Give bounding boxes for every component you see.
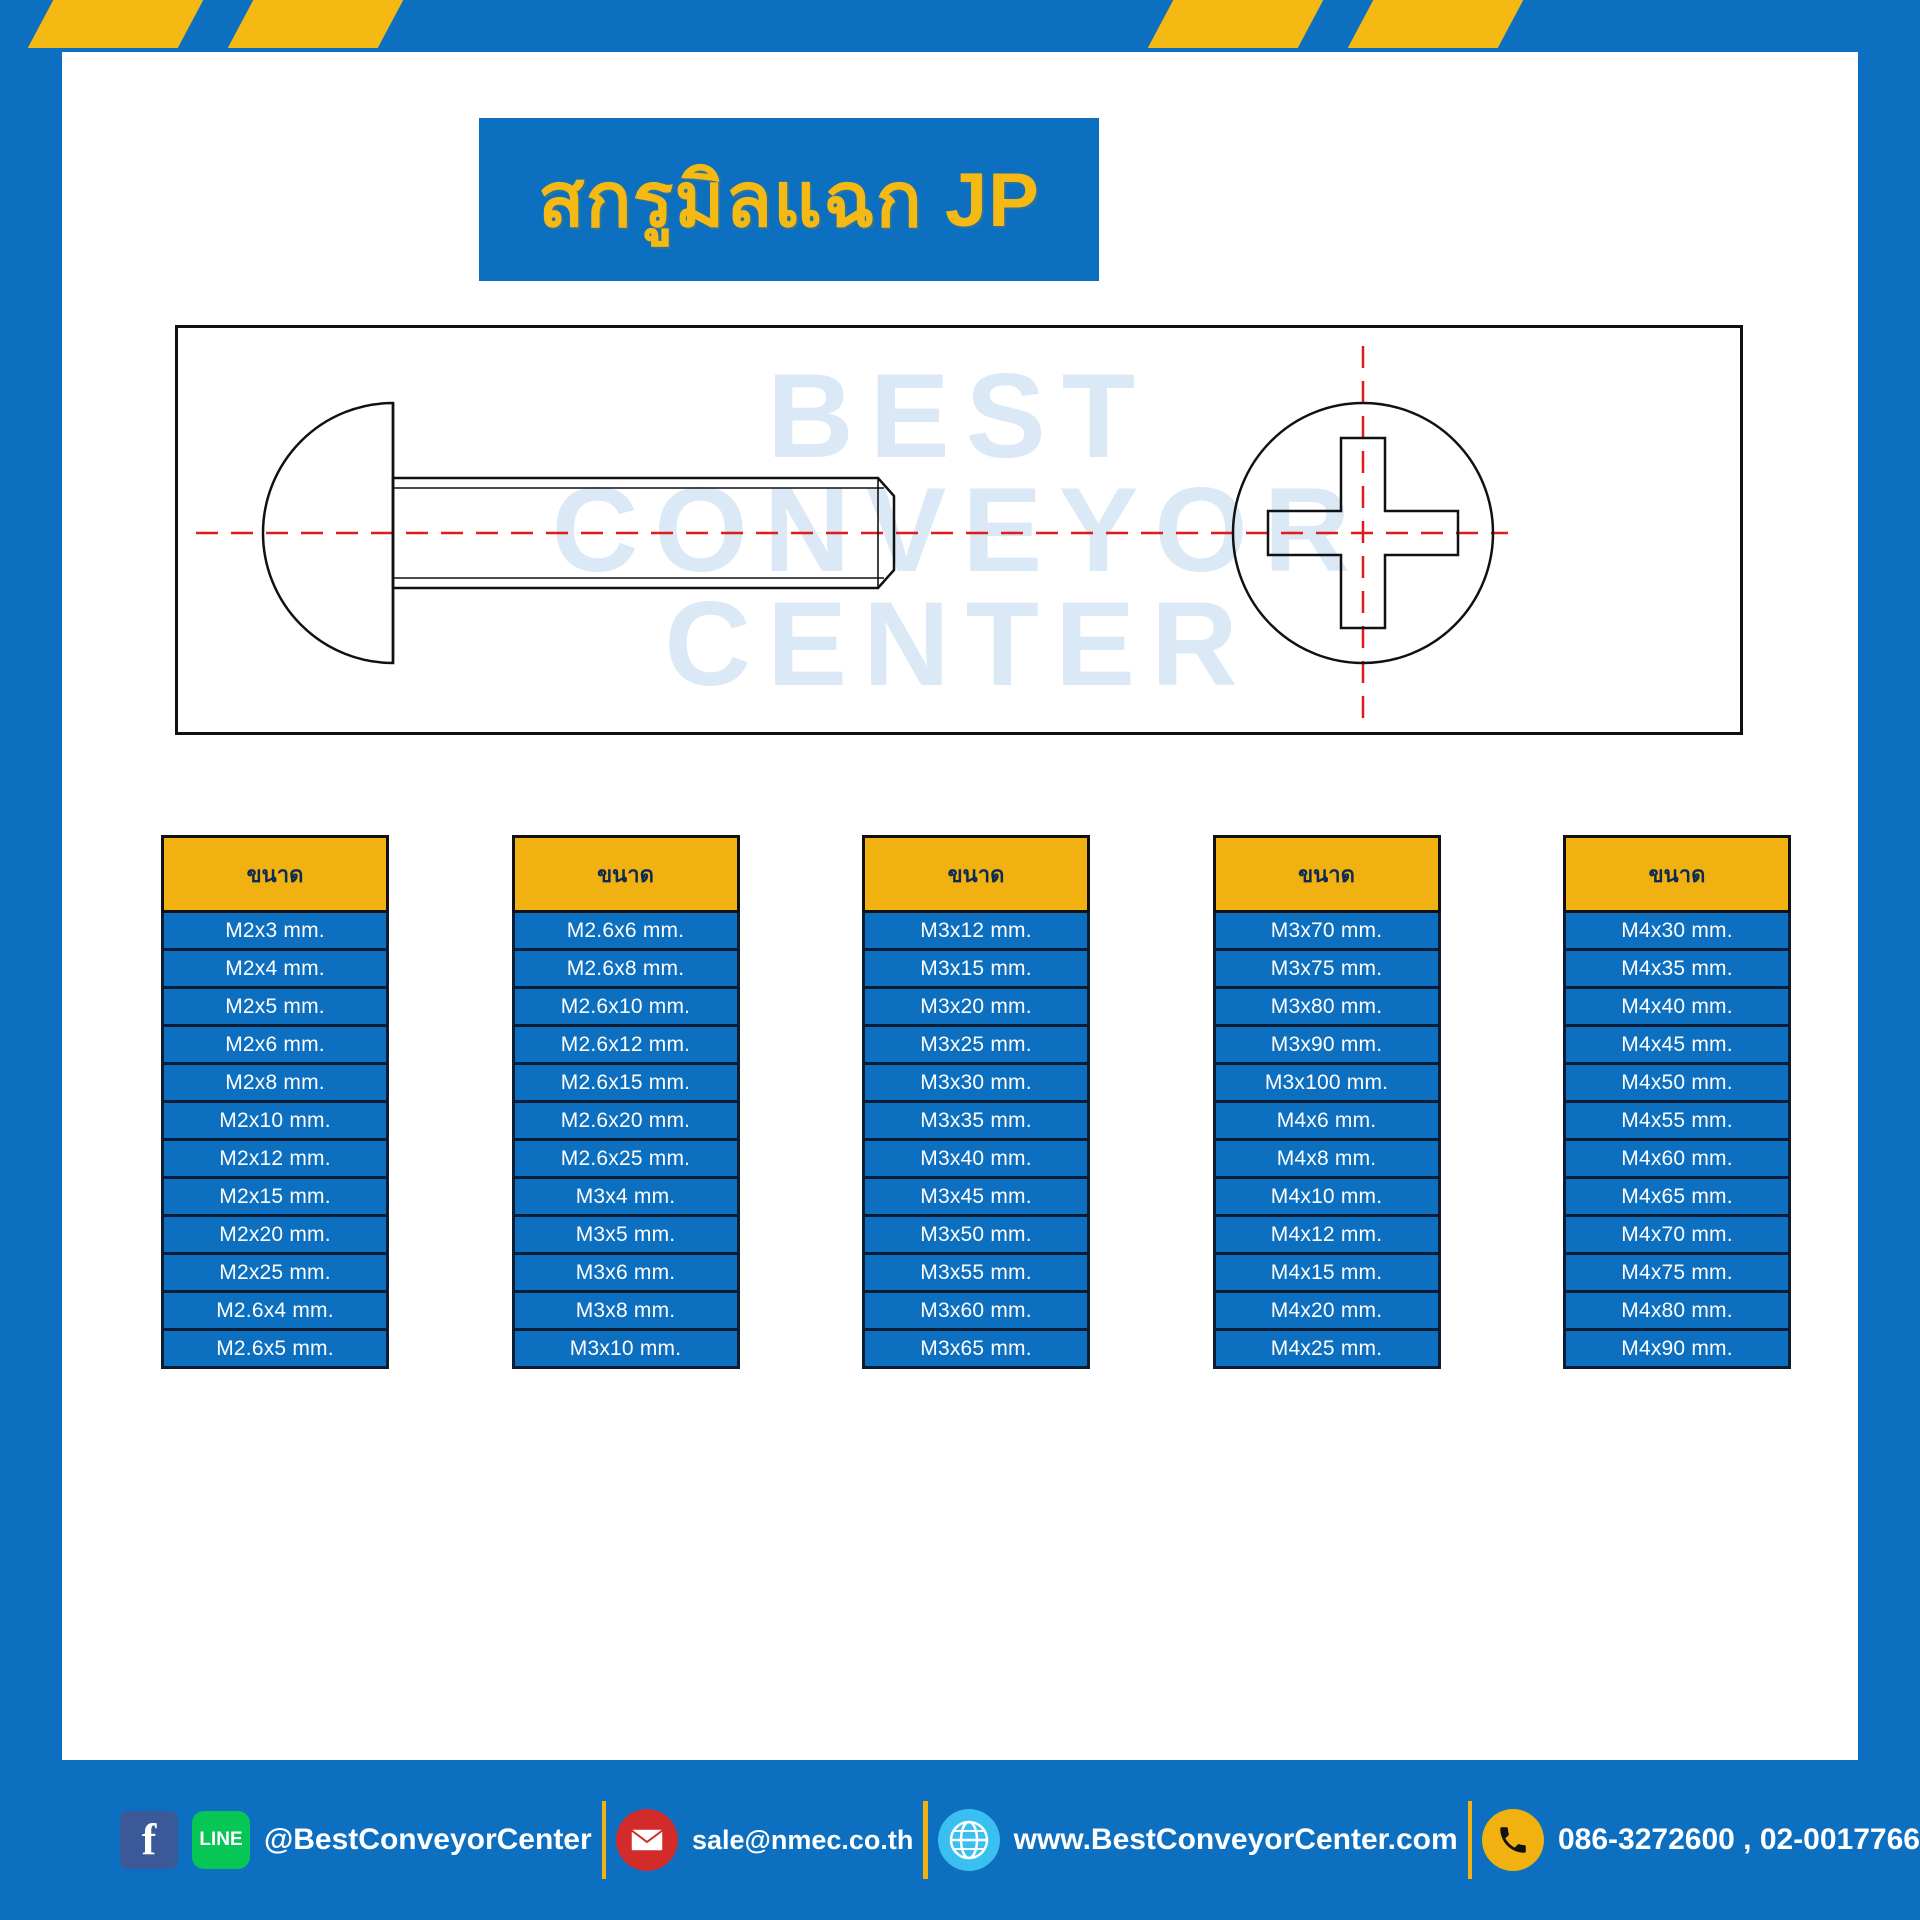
size-table-column-4: ขนาด M3x70 mm. M3x75 mm. M3x80 mm. M3x90… (1213, 835, 1441, 1369)
size-cell[interactable]: M4x90 mm. (1563, 1331, 1791, 1369)
chevron-shape (24, 0, 207, 48)
size-cell[interactable]: M4x30 mm. (1563, 913, 1791, 951)
size-cell[interactable]: M4x8 mm. (1213, 1141, 1441, 1179)
contact-footer: f LINE @BestConveyorCenter sale@nmec.co.… (0, 1760, 1920, 1920)
size-cell[interactable]: M4x50 mm. (1563, 1065, 1791, 1103)
size-cell[interactable]: M2.6x15 mm. (512, 1065, 740, 1103)
size-cell[interactable]: M4x75 mm. (1563, 1255, 1791, 1293)
size-table-column-3: ขนาด M3x12 mm. M3x15 mm. M3x20 mm. M3x25… (862, 835, 1090, 1369)
size-cell[interactable]: M2.6x6 mm. (512, 913, 740, 951)
size-cell[interactable]: M3x45 mm. (862, 1179, 1090, 1217)
screw-shank-outline (393, 478, 894, 588)
size-cell[interactable]: M2.6x5 mm. (161, 1331, 389, 1369)
column-header: ขนาด (862, 835, 1090, 913)
phone-numbers: 086-3272600 , 02-0017766 (1558, 1823, 1920, 1857)
facebook-icon[interactable]: f (120, 1811, 178, 1869)
size-cell[interactable]: M2x8 mm. (161, 1065, 389, 1103)
size-cell[interactable]: M3x90 mm. (1213, 1027, 1441, 1065)
chevron-shape (1144, 0, 1327, 48)
size-tables: ขนาด M2x3 mm. M2x4 mm. M2x5 mm. M2x6 mm.… (161, 835, 1791, 1369)
size-table-column-2: ขนาด M2.6x6 mm. M2.6x8 mm. M2.6x10 mm. M… (512, 835, 740, 1369)
size-cell[interactable]: M2.6x10 mm. (512, 989, 740, 1027)
size-cell[interactable]: M3x12 mm. (862, 913, 1090, 951)
size-cell[interactable]: M2.6x8 mm. (512, 951, 740, 989)
facebook-handle: @BestConveyorCenter (264, 1823, 592, 1857)
envelope-glyph (630, 1828, 664, 1852)
technical-drawing-frame: BEST CONVEYOR CENTER (175, 325, 1743, 735)
size-cell[interactable]: M3x6 mm. (512, 1255, 740, 1293)
email-address: sale@nmec.co.th (692, 1825, 913, 1856)
size-cell[interactable]: M2x4 mm. (161, 951, 389, 989)
website-url: www.BestConveyorCenter.com (1014, 1823, 1458, 1857)
screw-drawing (178, 328, 1740, 732)
size-cell[interactable]: M3x100 mm. (1213, 1065, 1441, 1103)
size-cell[interactable]: M2x3 mm. (161, 913, 389, 951)
size-cell[interactable]: M2.6x12 mm. (512, 1027, 740, 1065)
size-cell[interactable]: M4x35 mm. (1563, 951, 1791, 989)
email-icon[interactable] (616, 1809, 678, 1871)
chevron-shape (224, 0, 407, 48)
footer-website[interactable]: www.BestConveyorCenter.com (938, 1809, 1458, 1871)
size-cell[interactable]: M3x4 mm. (512, 1179, 740, 1217)
footer-facebook[interactable]: f LINE @BestConveyorCenter (120, 1811, 592, 1869)
column-header: ขนาด (1213, 835, 1441, 913)
size-cell[interactable]: M4x12 mm. (1213, 1217, 1441, 1255)
size-cell[interactable]: M4x70 mm. (1563, 1217, 1791, 1255)
size-cell[interactable]: M3x55 mm. (862, 1255, 1090, 1293)
size-cell[interactable]: M2x6 mm. (161, 1027, 389, 1065)
size-cell[interactable]: M3x80 mm. (1213, 989, 1441, 1027)
size-cell[interactable]: M3x75 mm. (1213, 951, 1441, 989)
size-cell[interactable]: M4x45 mm. (1563, 1027, 1791, 1065)
size-cell[interactable]: M3x8 mm. (512, 1293, 740, 1331)
globe-glyph (948, 1819, 990, 1861)
size-cell[interactable]: M2x15 mm. (161, 1179, 389, 1217)
size-table-column-1: ขนาด M2x3 mm. M2x4 mm. M2x5 mm. M2x6 mm.… (161, 835, 389, 1369)
size-cell[interactable]: M4x60 mm. (1563, 1141, 1791, 1179)
size-cell[interactable]: M4x40 mm. (1563, 989, 1791, 1027)
size-cell[interactable]: M2x10 mm. (161, 1103, 389, 1141)
size-cell[interactable]: M2x5 mm. (161, 989, 389, 1027)
column-header: ขนาด (1563, 835, 1791, 913)
size-cell[interactable]: M2.6x20 mm. (512, 1103, 740, 1141)
size-cell[interactable]: M3x25 mm. (862, 1027, 1090, 1065)
size-cell[interactable]: M4x25 mm. (1213, 1331, 1441, 1369)
size-cell[interactable]: M2x20 mm. (161, 1217, 389, 1255)
chevron-strip (0, 0, 1920, 48)
size-cell[interactable]: M4x20 mm. (1213, 1293, 1441, 1331)
size-cell[interactable]: M4x65 mm. (1563, 1179, 1791, 1217)
content-card: สกรูมิลแฉก JP BEST CONVEYOR CENTER (62, 52, 1858, 1772)
size-cell[interactable]: M3x20 mm. (862, 989, 1090, 1027)
footer-divider (923, 1801, 927, 1879)
size-cell[interactable]: M4x6 mm. (1213, 1103, 1441, 1141)
size-cell[interactable]: M4x55 mm. (1563, 1103, 1791, 1141)
page-title: สกรูมิลแฉก JP (538, 140, 1040, 260)
size-cell[interactable]: M2x12 mm. (161, 1141, 389, 1179)
phone-icon[interactable] (1482, 1809, 1544, 1871)
phone-glyph (1496, 1823, 1530, 1857)
size-cell[interactable]: M3x30 mm. (862, 1065, 1090, 1103)
footer-divider (602, 1801, 606, 1879)
size-cell[interactable]: M3x5 mm. (512, 1217, 740, 1255)
size-cell[interactable]: M3x10 mm. (512, 1331, 740, 1369)
size-cell[interactable]: M2.6x25 mm. (512, 1141, 740, 1179)
globe-icon[interactable] (938, 1809, 1000, 1871)
size-cell[interactable]: M4x15 mm. (1213, 1255, 1441, 1293)
size-cell[interactable]: M3x35 mm. (862, 1103, 1090, 1141)
size-cell[interactable]: M2x25 mm. (161, 1255, 389, 1293)
title-banner: สกรูมิลแฉก JP (479, 118, 1099, 281)
column-header: ขนาด (161, 835, 389, 913)
chevron-shape (1344, 0, 1527, 48)
size-cell[interactable]: M2.6x4 mm. (161, 1293, 389, 1331)
size-cell[interactable]: M3x40 mm. (862, 1141, 1090, 1179)
poster-page: สกรูมิลแฉก JP BEST CONVEYOR CENTER (0, 0, 1920, 1920)
footer-divider (1468, 1801, 1472, 1879)
line-icon[interactable]: LINE (192, 1811, 250, 1869)
size-cell[interactable]: M3x50 mm. (862, 1217, 1090, 1255)
column-header: ขนาด (512, 835, 740, 913)
size-table-column-5: ขนาด M4x30 mm. M4x35 mm. M4x40 mm. M4x45… (1563, 835, 1791, 1369)
size-cell[interactable]: M3x70 mm. (1213, 913, 1441, 951)
size-cell[interactable]: M4x80 mm. (1563, 1293, 1791, 1331)
footer-email[interactable]: sale@nmec.co.th (616, 1809, 913, 1871)
size-cell[interactable]: M3x65 mm. (862, 1331, 1090, 1369)
size-cell[interactable]: M3x60 mm. (862, 1293, 1090, 1331)
size-cell[interactable]: M4x10 mm. (1213, 1179, 1441, 1217)
size-cell[interactable]: M3x15 mm. (862, 951, 1090, 989)
footer-phone[interactable]: 086-3272600 , 02-0017766 (1482, 1809, 1920, 1871)
